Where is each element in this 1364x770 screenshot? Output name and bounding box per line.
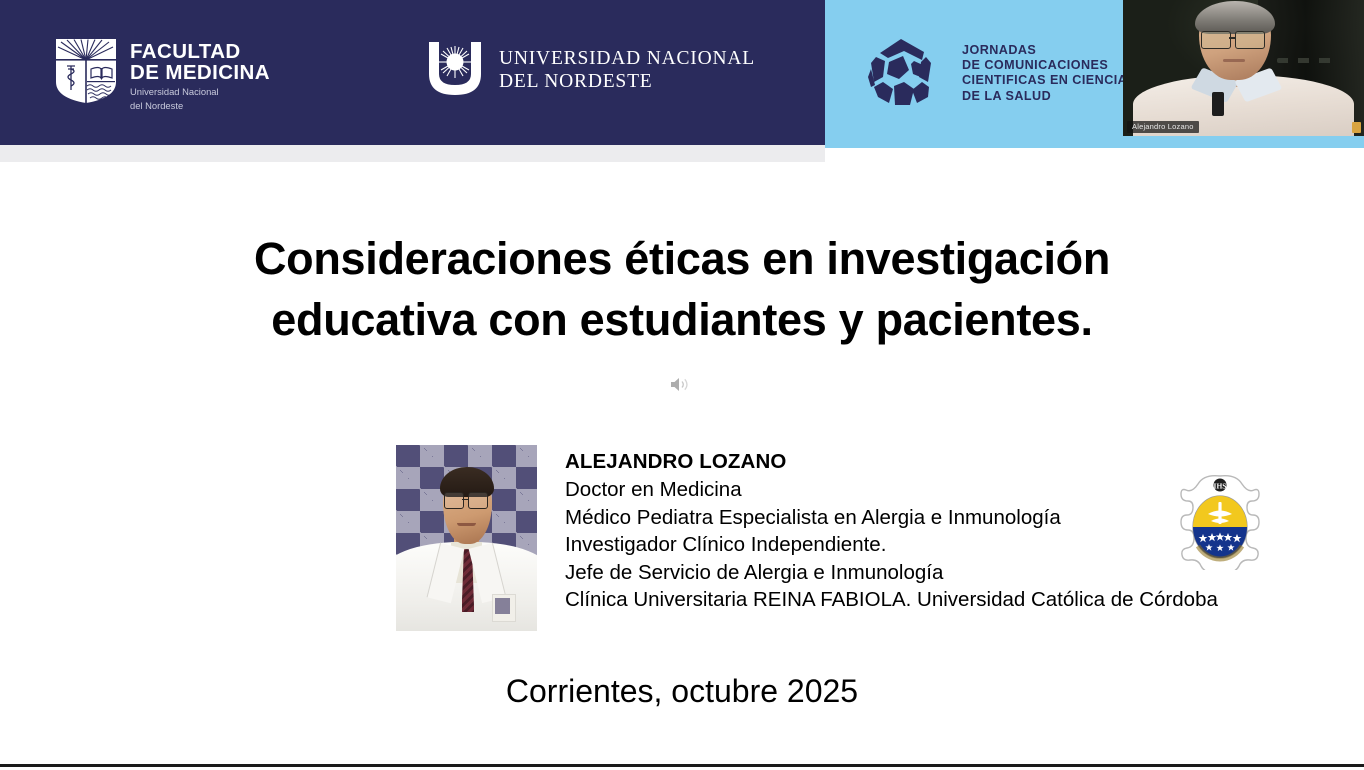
unne-line-1: UNIVERSIDAD NACIONAL xyxy=(499,47,755,70)
jornadas-wordmark: JORNADAS DE COMUNICACIONES CIENTIFICAS E… xyxy=(962,33,1136,104)
jornadas-line-4: DE LA SALUD xyxy=(962,89,1136,104)
video-person-mouth xyxy=(1223,59,1245,62)
fmed-line-2: DE MEDICINA xyxy=(130,62,270,83)
speaker-credential-4: Jefe de Servicio de Alergia e Inmunologí… xyxy=(565,559,1245,587)
video-background-dots xyxy=(1277,58,1340,63)
fmed-sub-1: Universidad Nacional xyxy=(130,86,270,97)
video-person-glasses-left xyxy=(1201,31,1231,49)
video-person-lapel-microphone xyxy=(1212,92,1224,115)
presentation-slide: FACULTAD DE MEDICINA Universidad Naciona… xyxy=(0,0,1364,770)
photo-mouth xyxy=(457,523,477,526)
speaker-credential-2: Médico Pediatra Especialista en Alergia … xyxy=(565,504,1245,532)
video-participant-name-label: Alejandro Lozano xyxy=(1127,121,1199,133)
fmed-sub-2: del Nordeste xyxy=(130,100,270,111)
video-person-glasses-right xyxy=(1235,31,1265,49)
hexagon-network-icon xyxy=(858,33,944,115)
unne-wordmark: UNIVERSIDAD NACIONAL DEL NORDESTE xyxy=(499,40,755,93)
speaker-credential-5: Clínica Universitaria REINA FABIOLA. Uni… xyxy=(565,586,1245,614)
slide-bottom-rule xyxy=(0,764,1364,767)
fmed-line-1: FACULTAD xyxy=(130,41,270,62)
jornadas-line-2: DE COMUNICACIONES xyxy=(962,58,1136,73)
slide-date-location: Corrientes, octubre 2025 xyxy=(182,670,1182,712)
jornadas-line-3: CIENTIFICAS EN CIENCIAS xyxy=(962,73,1136,88)
photo-glasses-bridge xyxy=(462,499,468,500)
jornadas-line-1: JORNADAS xyxy=(962,43,1136,58)
presenter-photo xyxy=(396,445,537,631)
banner-grey-underbar xyxy=(0,145,825,162)
logo-facultad-medicina: FACULTAD DE MEDICINA Universidad Naciona… xyxy=(55,38,270,111)
svg-text:IHS: IHS xyxy=(1214,482,1227,491)
participant-video-tile[interactable]: Alejandro Lozano xyxy=(1123,0,1364,136)
photo-glasses-left xyxy=(444,492,464,509)
speaker-credential-1: Doctor en Medicina xyxy=(565,476,1245,504)
speaker-credential-3: Investigador Clínico Independiente. xyxy=(565,531,1245,559)
speaker-name: ALEJANDRO LOZANO xyxy=(565,448,1245,476)
logo-unne: UNIVERSIDAD NACIONAL DEL NORDESTE xyxy=(425,40,755,98)
unne-u-sunburst-icon xyxy=(425,40,485,98)
video-person-glasses-bridge xyxy=(1229,37,1235,39)
photo-coat-pocket-logo xyxy=(495,598,511,615)
photo-glasses-right xyxy=(468,492,488,509)
speaker-info-block: ALEJANDRO LOZANO Doctor en Medicina Médi… xyxy=(565,448,1245,614)
universidad-catolica-de-cordoba-crest-icon: IHS xyxy=(1178,470,1262,570)
facultad-de-medicina-shield-icon xyxy=(55,38,117,104)
video-corner-indicator-icon xyxy=(1352,122,1361,133)
facultad-medicina-wordmark: FACULTAD DE MEDICINA Universidad Naciona… xyxy=(130,38,270,111)
slide-title: Consideraciones éticas en investigación … xyxy=(182,228,1182,350)
unne-line-2: DEL NORDESTE xyxy=(499,70,755,93)
logo-jornadas: JORNADAS DE COMUNICACIONES CIENTIFICAS E… xyxy=(858,33,1136,115)
speaker-audio-icon[interactable] xyxy=(669,376,691,393)
